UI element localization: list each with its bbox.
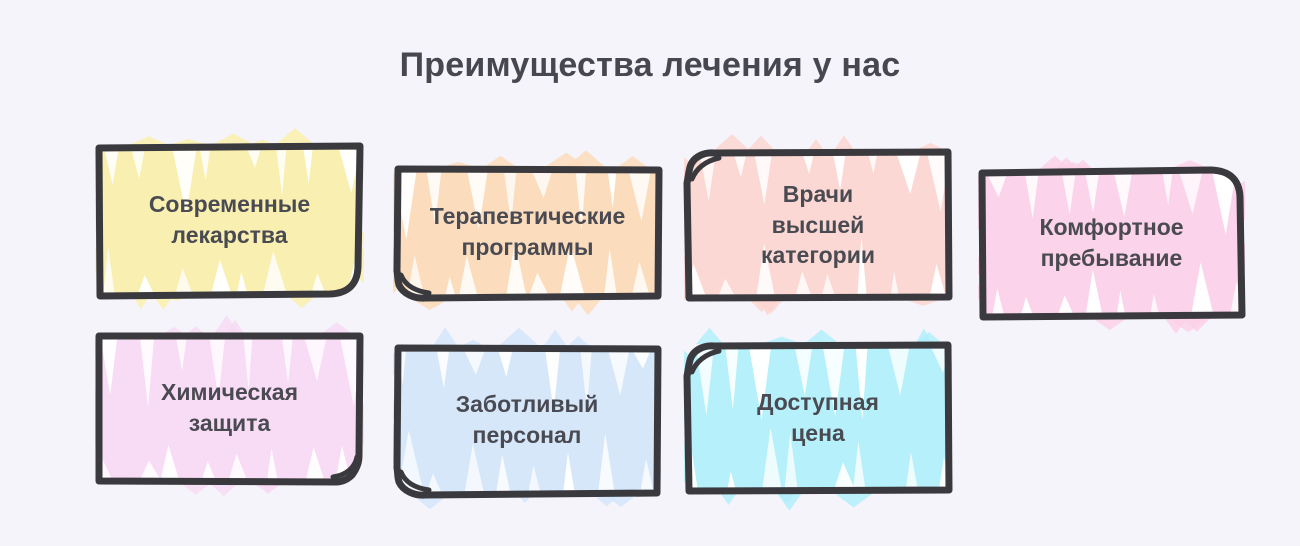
card-marker-fill — [677, 140, 959, 309]
card-shape — [97, 334, 362, 481]
card-shape — [980, 169, 1243, 317]
card-shape — [686, 344, 950, 492]
infographic-canvas: Преимущества лечения у нас Современные л… — [0, 0, 1300, 546]
card-shape — [395, 167, 660, 297]
benefit-card-terapevticheskie-programmy[interactable]: Терапевтические программы — [395, 167, 660, 297]
benefit-card-komfortnoe-prebyvanie[interactable]: Комфортное пребывание — [980, 169, 1243, 317]
benefit-card-zabotlivyy-personal[interactable]: Заботливый персонал — [395, 346, 659, 494]
card-marker-fill — [386, 156, 669, 308]
card-marker-fill — [88, 323, 371, 491]
benefit-card-himicheskaya-zashchita[interactable]: Химическая защита — [97, 334, 362, 481]
page-title: Преимущества лечения у нас — [0, 46, 1300, 85]
benefit-card-sovremennye-lekarstva[interactable]: Современные лекарства — [97, 145, 362, 295]
card-marker-fill — [677, 334, 959, 503]
card-shape — [395, 346, 659, 494]
card-marker-fill — [971, 158, 1252, 327]
benefit-card-dostupnaya-cena[interactable]: Доступная цена — [686, 344, 950, 492]
card-shape — [686, 151, 950, 299]
card-marker-fill — [88, 134, 371, 306]
card-shape — [97, 145, 362, 295]
card-marker-fill — [386, 336, 668, 502]
benefit-card-vrachi-vysshey-kategorii[interactable]: Врачи высшей категории — [686, 151, 950, 299]
